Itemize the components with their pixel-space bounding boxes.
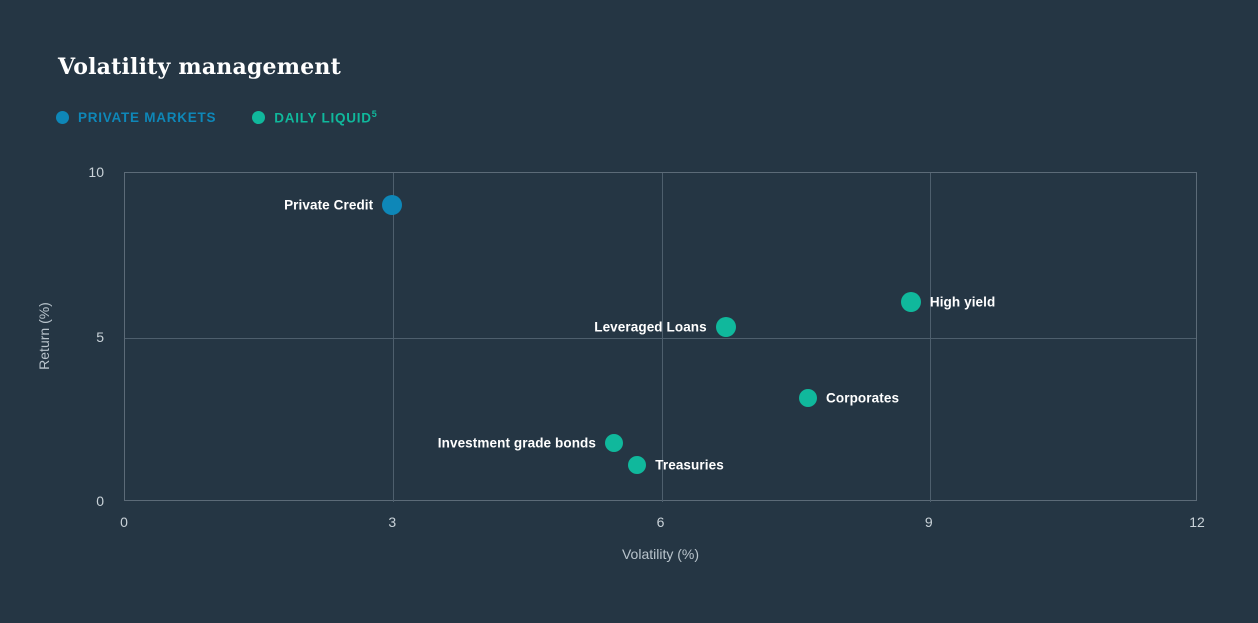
x-axis-title: Volatility (%)	[124, 546, 1197, 562]
plot-area	[124, 172, 1197, 501]
legend-item[interactable]: PRIVATE MARKETS	[56, 107, 216, 127]
data-point[interactable]	[901, 292, 921, 312]
y-axis-tick-label: 10	[78, 164, 104, 180]
data-point-label: Corporates	[826, 391, 899, 406]
data-point-label: High yield	[930, 294, 996, 309]
x-axis-tick-label: 3	[388, 514, 396, 530]
legend-item[interactable]: DAILY LIQUID5	[252, 107, 377, 127]
data-point[interactable]	[382, 195, 402, 215]
data-point[interactable]	[628, 456, 646, 474]
data-point[interactable]	[716, 317, 736, 337]
y-axis-title: Return (%)	[36, 302, 52, 370]
gridline-horizontal	[125, 338, 1196, 339]
data-point[interactable]	[605, 434, 623, 452]
chart-legend: PRIVATE MARKETSDAILY LIQUID5	[56, 107, 377, 127]
legend-footnote-marker: 5	[372, 109, 377, 119]
data-point-label: Treasuries	[655, 458, 724, 473]
data-point-label: Investment grade bonds	[0, 436, 596, 451]
legend-dot-icon	[252, 111, 265, 124]
data-point-label: Leveraged Loans	[0, 319, 707, 334]
legend-item-label: PRIVATE MARKETS	[78, 110, 216, 125]
x-axis-tick-label: 0	[120, 514, 128, 530]
page-title: Volatility management	[58, 54, 341, 80]
y-axis-tick-label: 0	[78, 493, 104, 509]
legend-dot-icon	[56, 111, 69, 124]
x-axis-tick-label: 9	[925, 514, 933, 530]
chart-figure: Volatility management PRIVATE MARKETSDAI…	[0, 0, 1258, 623]
data-point[interactable]	[799, 389, 817, 407]
data-point-label: Private Credit	[0, 197, 373, 212]
legend-item-label: DAILY LIQUID5	[274, 109, 377, 126]
x-axis-tick-label: 12	[1189, 514, 1205, 530]
x-axis-tick-label: 6	[657, 514, 665, 530]
